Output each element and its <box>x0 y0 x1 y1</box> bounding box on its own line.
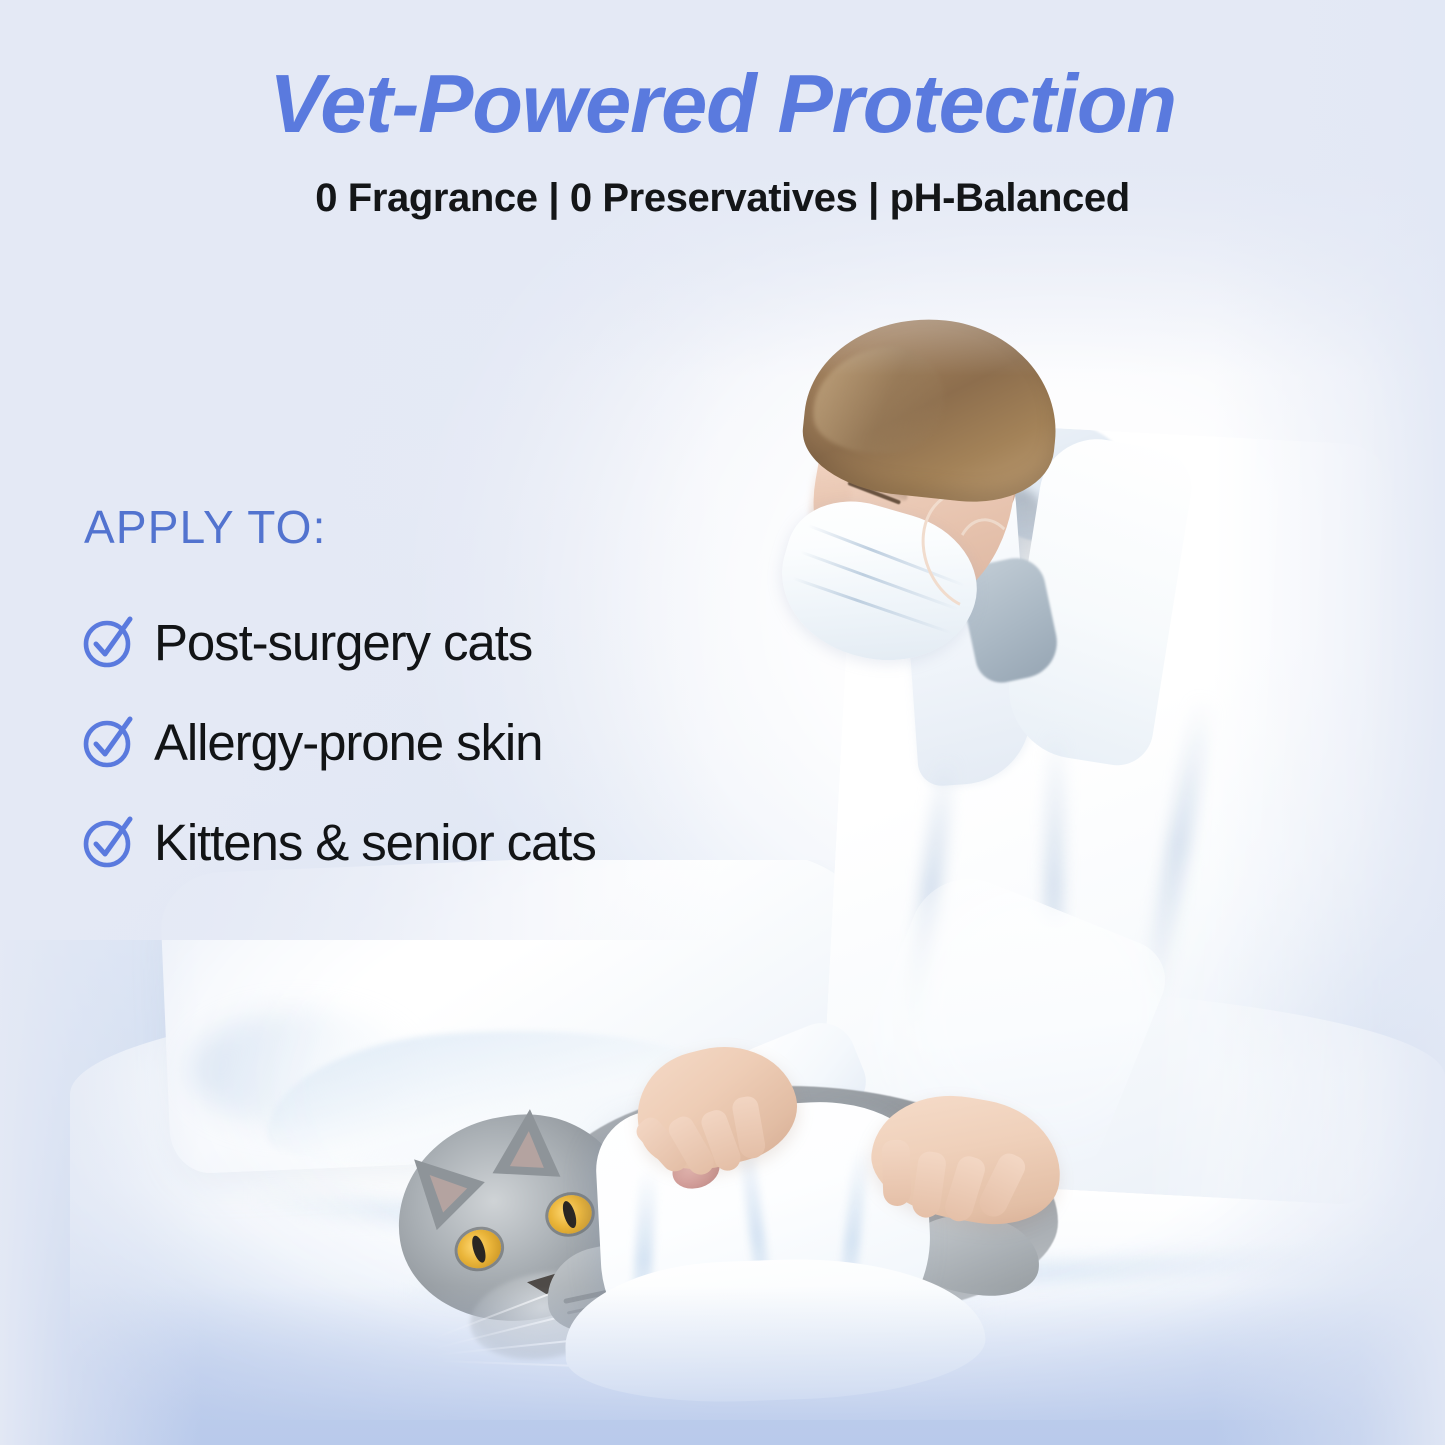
list-item: Post-surgery cats <box>80 592 900 692</box>
apply-to-heading: APPLY TO: <box>84 500 327 554</box>
text-content: Vet-Powered Protection 0 Fragrance | 0 P… <box>0 0 1445 1445</box>
list-item-label: Post-surgery cats <box>154 613 532 672</box>
list-item: Kittens & senior cats <box>80 792 900 892</box>
page-title: Vet-Powered Protection <box>0 62 1445 147</box>
promo-banner: Vet-Powered Protection 0 Fragrance | 0 P… <box>0 0 1445 1445</box>
apply-to-list: Post-surgery cats Allergy-prone skin Kit… <box>80 592 900 892</box>
list-item-label: Allergy-prone skin <box>154 713 542 772</box>
check-circle-icon <box>80 713 138 771</box>
check-circle-icon <box>80 813 138 871</box>
subtitle: 0 Fragrance | 0 Preservatives | pH-Balan… <box>0 176 1445 221</box>
list-item-label: Kittens & senior cats <box>154 813 596 872</box>
check-circle-icon <box>80 613 138 671</box>
list-item: Allergy-prone skin <box>80 692 900 792</box>
